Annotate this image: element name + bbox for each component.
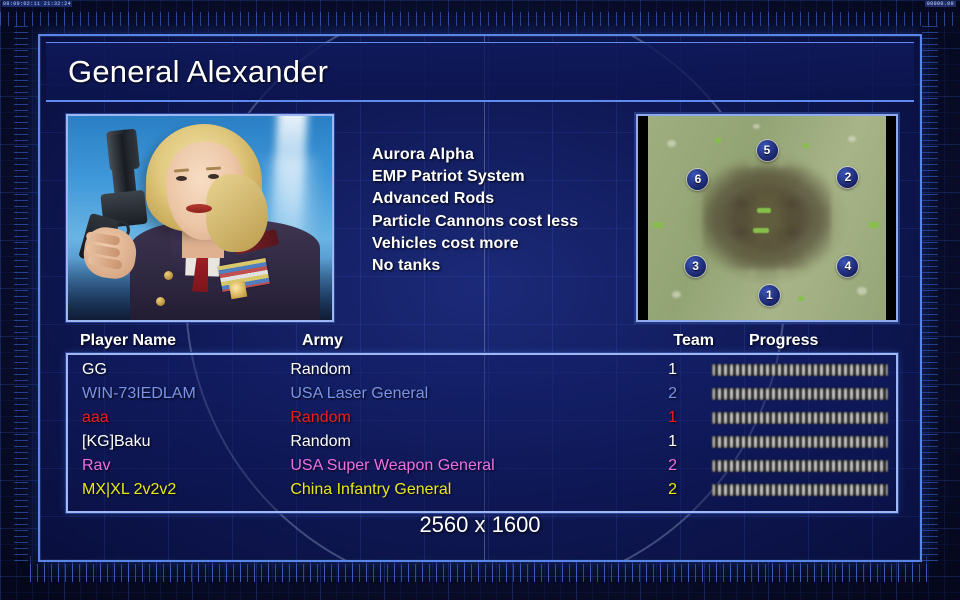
minimap-frame[interactable]: 562341 (636, 114, 898, 322)
portrait-eye-left (176, 176, 187, 181)
minimap-start-position-5[interactable]: 5 (757, 140, 778, 161)
resolution-label: 2560 x 1600 (40, 512, 920, 538)
progress-cell (685, 484, 888, 496)
minimap-start-position-4[interactable]: 4 (837, 256, 858, 277)
minimap-image: 562341 (648, 116, 886, 320)
minimap-terrain-feature (667, 140, 676, 147)
table-row[interactable]: MX|XL 2v2v2China Infantry General2 (68, 478, 896, 502)
page-title: General Alexander (46, 54, 328, 90)
progress-cell (685, 460, 888, 472)
ruler-left-decoration (14, 26, 28, 566)
minimap-start-position-3[interactable]: 3 (685, 256, 706, 277)
team-cell: 1 (611, 361, 685, 379)
ability-item: Vehicles cost more (372, 233, 636, 255)
general-portrait-frame (66, 114, 334, 322)
column-header-team: Team (644, 332, 722, 350)
progress-cell (685, 364, 888, 376)
player-name-cell: aaa (82, 409, 290, 427)
team-cell: 2 (611, 481, 685, 499)
progress-bar (712, 484, 888, 496)
game-lobby-screen: 08:00:02:11 21:32:24 00000.00 General Al… (0, 0, 960, 600)
title-bar: General Alexander (46, 42, 914, 102)
minimap-resource (798, 296, 804, 301)
table-row[interactable]: RavUSA Super Weapon General2 (68, 454, 896, 478)
column-header-player-name: Player Name (80, 332, 302, 350)
team-cell: 1 (611, 409, 685, 427)
progress-cell (685, 388, 888, 400)
player-name-cell: MX|XL 2v2v2 (82, 481, 290, 499)
progress-bar (712, 364, 888, 376)
portrait-uniform-button (156, 297, 165, 306)
portrait-hair-side (206, 174, 268, 252)
table-row[interactable]: [KG]BakuRandom1 (68, 430, 896, 454)
team-cell: 2 (611, 457, 685, 475)
player-name-cell: [KG]Baku (82, 433, 290, 451)
general-portrait-image (68, 116, 332, 320)
minimap-resource (753, 228, 769, 233)
portrait-eye-right (208, 174, 219, 179)
minimap-start-position-1[interactable]: 1 (759, 285, 780, 306)
minimap-terrain-feature (857, 287, 867, 295)
player-name-cell: GG (82, 361, 290, 379)
minimap-resource (803, 143, 809, 148)
army-cell: USA Super Weapon General (290, 457, 611, 475)
table-row[interactable]: WIN-73IEDLAMUSA Laser General2 (68, 382, 896, 406)
ability-item: Advanced Rods (372, 188, 636, 210)
player-list-body: GGRandom1WIN-73IEDLAMUSA Laser General2a… (66, 353, 898, 513)
minimap-terrain-feature (848, 136, 856, 142)
minimap-terrain-feature (753, 124, 760, 129)
table-row[interactable]: aaaRandom1 (68, 406, 896, 430)
ruler-top-decoration (0, 12, 960, 26)
portrait-uniform-button (164, 271, 173, 280)
player-list: Player Name Army Team Progress GGRandom1… (66, 332, 898, 522)
progress-bar (712, 436, 888, 448)
player-name-cell: Rav (82, 457, 290, 475)
hud-timecode-top-left: 08:00:02:11 21:32:24 (2, 1, 73, 7)
ability-item: Particle Cannons cost less (372, 211, 636, 233)
player-name-cell: WIN-73IEDLAM (82, 385, 290, 403)
player-list-header: Player Name Army Team Progress (66, 332, 898, 353)
progress-bar (712, 388, 888, 400)
column-header-progress: Progress (722, 332, 890, 350)
minimap-resource (869, 222, 879, 228)
minimap-start-position-2[interactable]: 2 (837, 167, 858, 188)
general-ability-list: Aurora Alpha EMP Patriot System Advanced… (334, 114, 636, 277)
army-cell: Random (290, 409, 611, 427)
progress-cell (685, 436, 888, 448)
table-row[interactable]: GGRandom1 (68, 358, 896, 382)
army-cell: Random (290, 361, 611, 379)
hud-counter-top-right: 00000.00 (925, 1, 956, 7)
ability-item: Aurora Alpha (372, 144, 636, 166)
progress-bar (712, 460, 888, 472)
general-info-row: Aurora Alpha EMP Patriot System Advanced… (66, 114, 898, 326)
column-header-army: Army (302, 332, 644, 350)
ability-item: No tanks (372, 255, 636, 277)
army-cell: China Infantry General (290, 481, 611, 499)
ability-item: EMP Patriot System (372, 166, 636, 188)
army-cell: Random (290, 433, 611, 451)
minimap-resource (715, 138, 721, 143)
progress-bar (712, 412, 888, 424)
team-cell: 1 (611, 433, 685, 451)
minimap-resource (757, 208, 771, 213)
ruler-bottom-decoration (30, 564, 930, 582)
portrait-medal (229, 281, 248, 300)
portrait-lips (186, 204, 212, 213)
team-cell: 2 (611, 385, 685, 403)
general-info-window: General Alexander (38, 34, 922, 562)
army-cell: USA Laser General (290, 385, 611, 403)
minimap-resource (653, 222, 663, 228)
minimap-terrain-feature (672, 291, 681, 298)
progress-cell (685, 412, 888, 424)
ruler-right-decoration (922, 26, 938, 566)
